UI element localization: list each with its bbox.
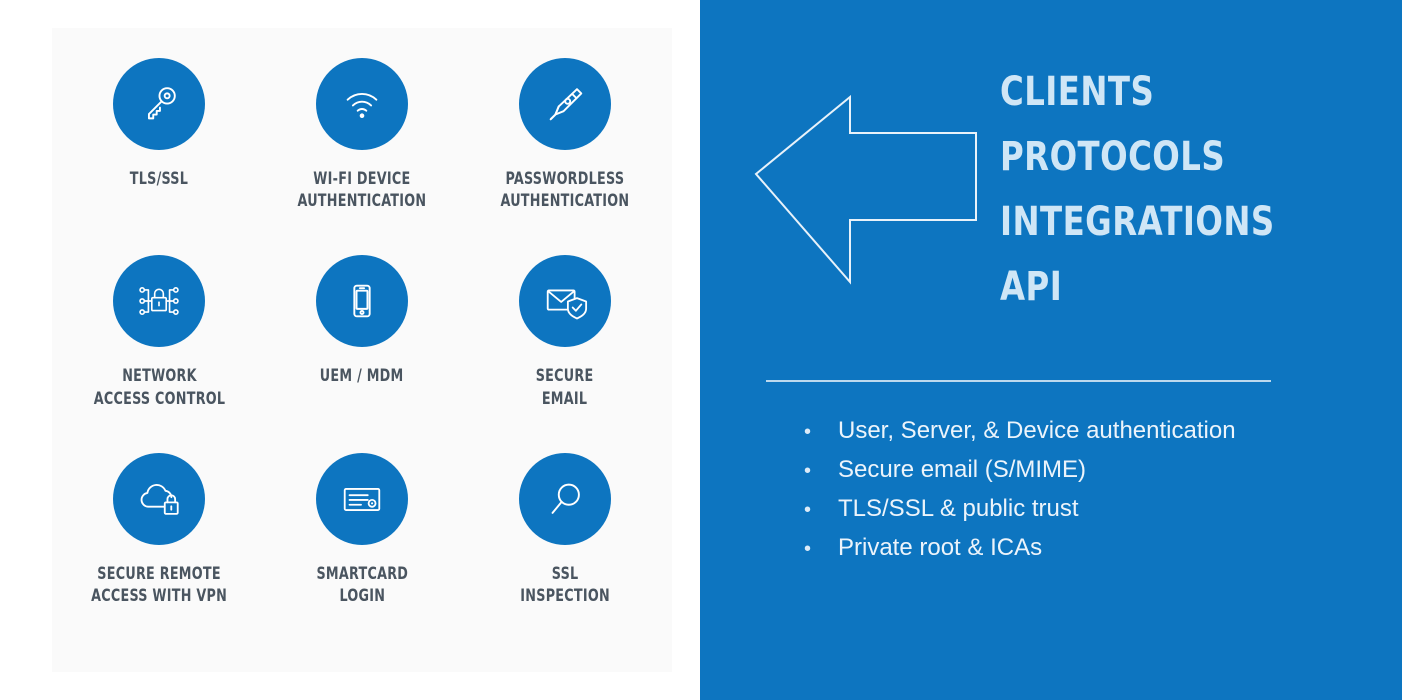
use-case-label: NETWORK ACCESS CONTROL: [94, 365, 226, 410]
network-lock-icon: [134, 276, 184, 326]
list-item-label: User, Server, & Device authentication: [838, 412, 1236, 451]
icon-badge: [113, 255, 205, 347]
capabilities-list: • User, Server, & Device authentication …: [804, 412, 1364, 568]
left-panel: TLS/SSL WI-FI DEVICE AUTHENTICATION: [0, 0, 700, 700]
use-case-label: SMARTCARD LOGIN: [316, 563, 408, 608]
list-item-label: Secure email (S/MIME): [838, 451, 1086, 490]
use-case-item-network-access-control[interactable]: NETWORK ACCESS CONTROL: [58, 255, 261, 452]
icon-badge: [316, 58, 408, 150]
heading-clients: CLIENTS: [1000, 72, 1342, 112]
list-item: • TLS/SSL & public trust: [804, 490, 1364, 529]
list-item-label: Private root & ICAs: [838, 529, 1042, 568]
bullet-marker-icon: •: [804, 494, 838, 526]
use-case-item-smartcard-login[interactable]: SMARTCARD LOGIN: [261, 453, 464, 650]
secure-email-icon: [541, 277, 589, 325]
key-icon: [136, 81, 182, 127]
left-arrow-icon: [746, 95, 986, 315]
right-panel: CLIENTS PROTOCOLS INTEGRATIONS API • Use…: [700, 0, 1402, 700]
bullet-marker-icon: •: [804, 416, 838, 448]
heading-api: API: [1000, 267, 1342, 307]
use-case-item-uem-mdm[interactable]: UEM / MDM: [261, 255, 464, 452]
use-case-label: TLS/SSL: [130, 168, 188, 190]
use-case-item-tls-ssl[interactable]: TLS/SSL: [58, 58, 261, 255]
icon-badge: [316, 255, 408, 347]
icon-badge: [113, 58, 205, 150]
use-case-item-secure-remote-access-vpn[interactable]: SECURE REMOTE ACCESS WITH VPN: [58, 453, 261, 650]
list-item: • Private root & ICAs: [804, 529, 1364, 568]
list-item-label: TLS/SSL & public trust: [838, 490, 1079, 529]
icon-badge: [519, 255, 611, 347]
heading-integrations: INTEGRATIONS: [1000, 202, 1342, 242]
use-case-item-passwordless-authentication[interactable]: PASSWORDLESS AUTHENTICATION: [463, 58, 666, 255]
icon-badge: [519, 453, 611, 545]
bullet-marker-icon: •: [804, 455, 838, 487]
cloud-lock-icon: [135, 475, 183, 523]
magnifier-icon: [542, 476, 588, 522]
use-case-label: PASSWORDLESS AUTHENTICATION: [500, 168, 629, 213]
list-item: • Secure email (S/MIME): [804, 451, 1364, 490]
wifi-icon: [339, 81, 385, 127]
use-case-item-ssl-inspection[interactable]: SSL INSPECTION: [463, 453, 666, 650]
use-case-item-secure-email[interactable]: SECURE EMAIL: [463, 255, 666, 452]
use-case-item-wifi-device-authentication[interactable]: WI-FI DEVICE AUTHENTICATION: [261, 58, 464, 255]
icon-badge: [113, 453, 205, 545]
section-divider: [766, 380, 1271, 382]
list-item: • User, Server, & Device authentication: [804, 412, 1364, 451]
bullet-marker-icon: •: [804, 533, 838, 565]
use-case-label: WI-FI DEVICE AUTHENTICATION: [298, 168, 427, 213]
heading-protocols: PROTOCOLS: [1000, 137, 1342, 177]
use-case-card: TLS/SSL WI-FI DEVICE AUTHENTICATION: [52, 28, 672, 672]
use-case-grid: TLS/SSL WI-FI DEVICE AUTHENTICATION: [52, 28, 672, 672]
headings-list: CLIENTS PROTOCOLS INTEGRATIONS API: [1000, 72, 1380, 332]
pen-nib-icon: [542, 81, 588, 127]
use-case-label: UEM / MDM: [320, 365, 404, 387]
icon-badge: [519, 58, 611, 150]
use-case-label: SECURE REMOTE ACCESS WITH VPN: [91, 563, 227, 608]
icon-badge: [316, 453, 408, 545]
use-case-label: SECURE EMAIL: [536, 365, 594, 410]
use-case-label: SSL INSPECTION: [520, 563, 610, 608]
mobile-device-icon: [339, 278, 385, 324]
smartcard-icon: [338, 475, 386, 523]
